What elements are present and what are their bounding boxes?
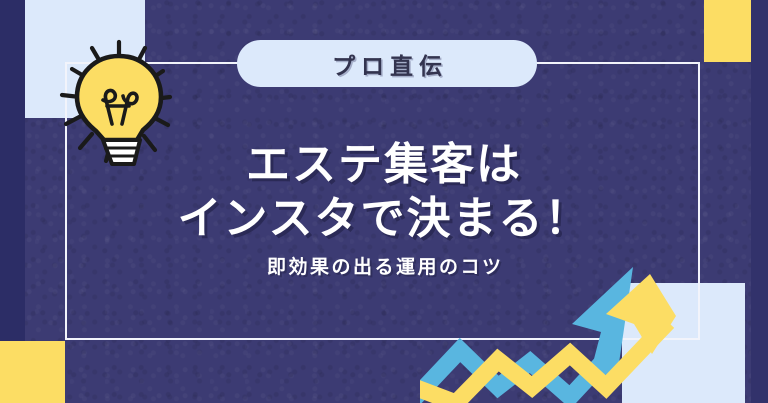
badge-pill: プロ直伝 <box>237 40 537 87</box>
headline: エステ集客は インスタで決まる！ <box>0 138 768 245</box>
subtitle: 即効果の出る運用のコツ <box>0 252 768 279</box>
headline-line-2: インスタで決まる！ <box>0 192 768 246</box>
headline-line-1: エステ集客は <box>0 138 768 192</box>
promo-banner: プロ直伝 エステ集客は インスタで決まる！ 即効果の出る運用のコツ <box>0 0 768 403</box>
top-right-yellow-square <box>704 0 751 62</box>
bottom-left-yellow-square <box>0 341 65 403</box>
growth-arrows-graphic <box>420 262 768 403</box>
badge-label: プロ直伝 <box>326 47 448 81</box>
